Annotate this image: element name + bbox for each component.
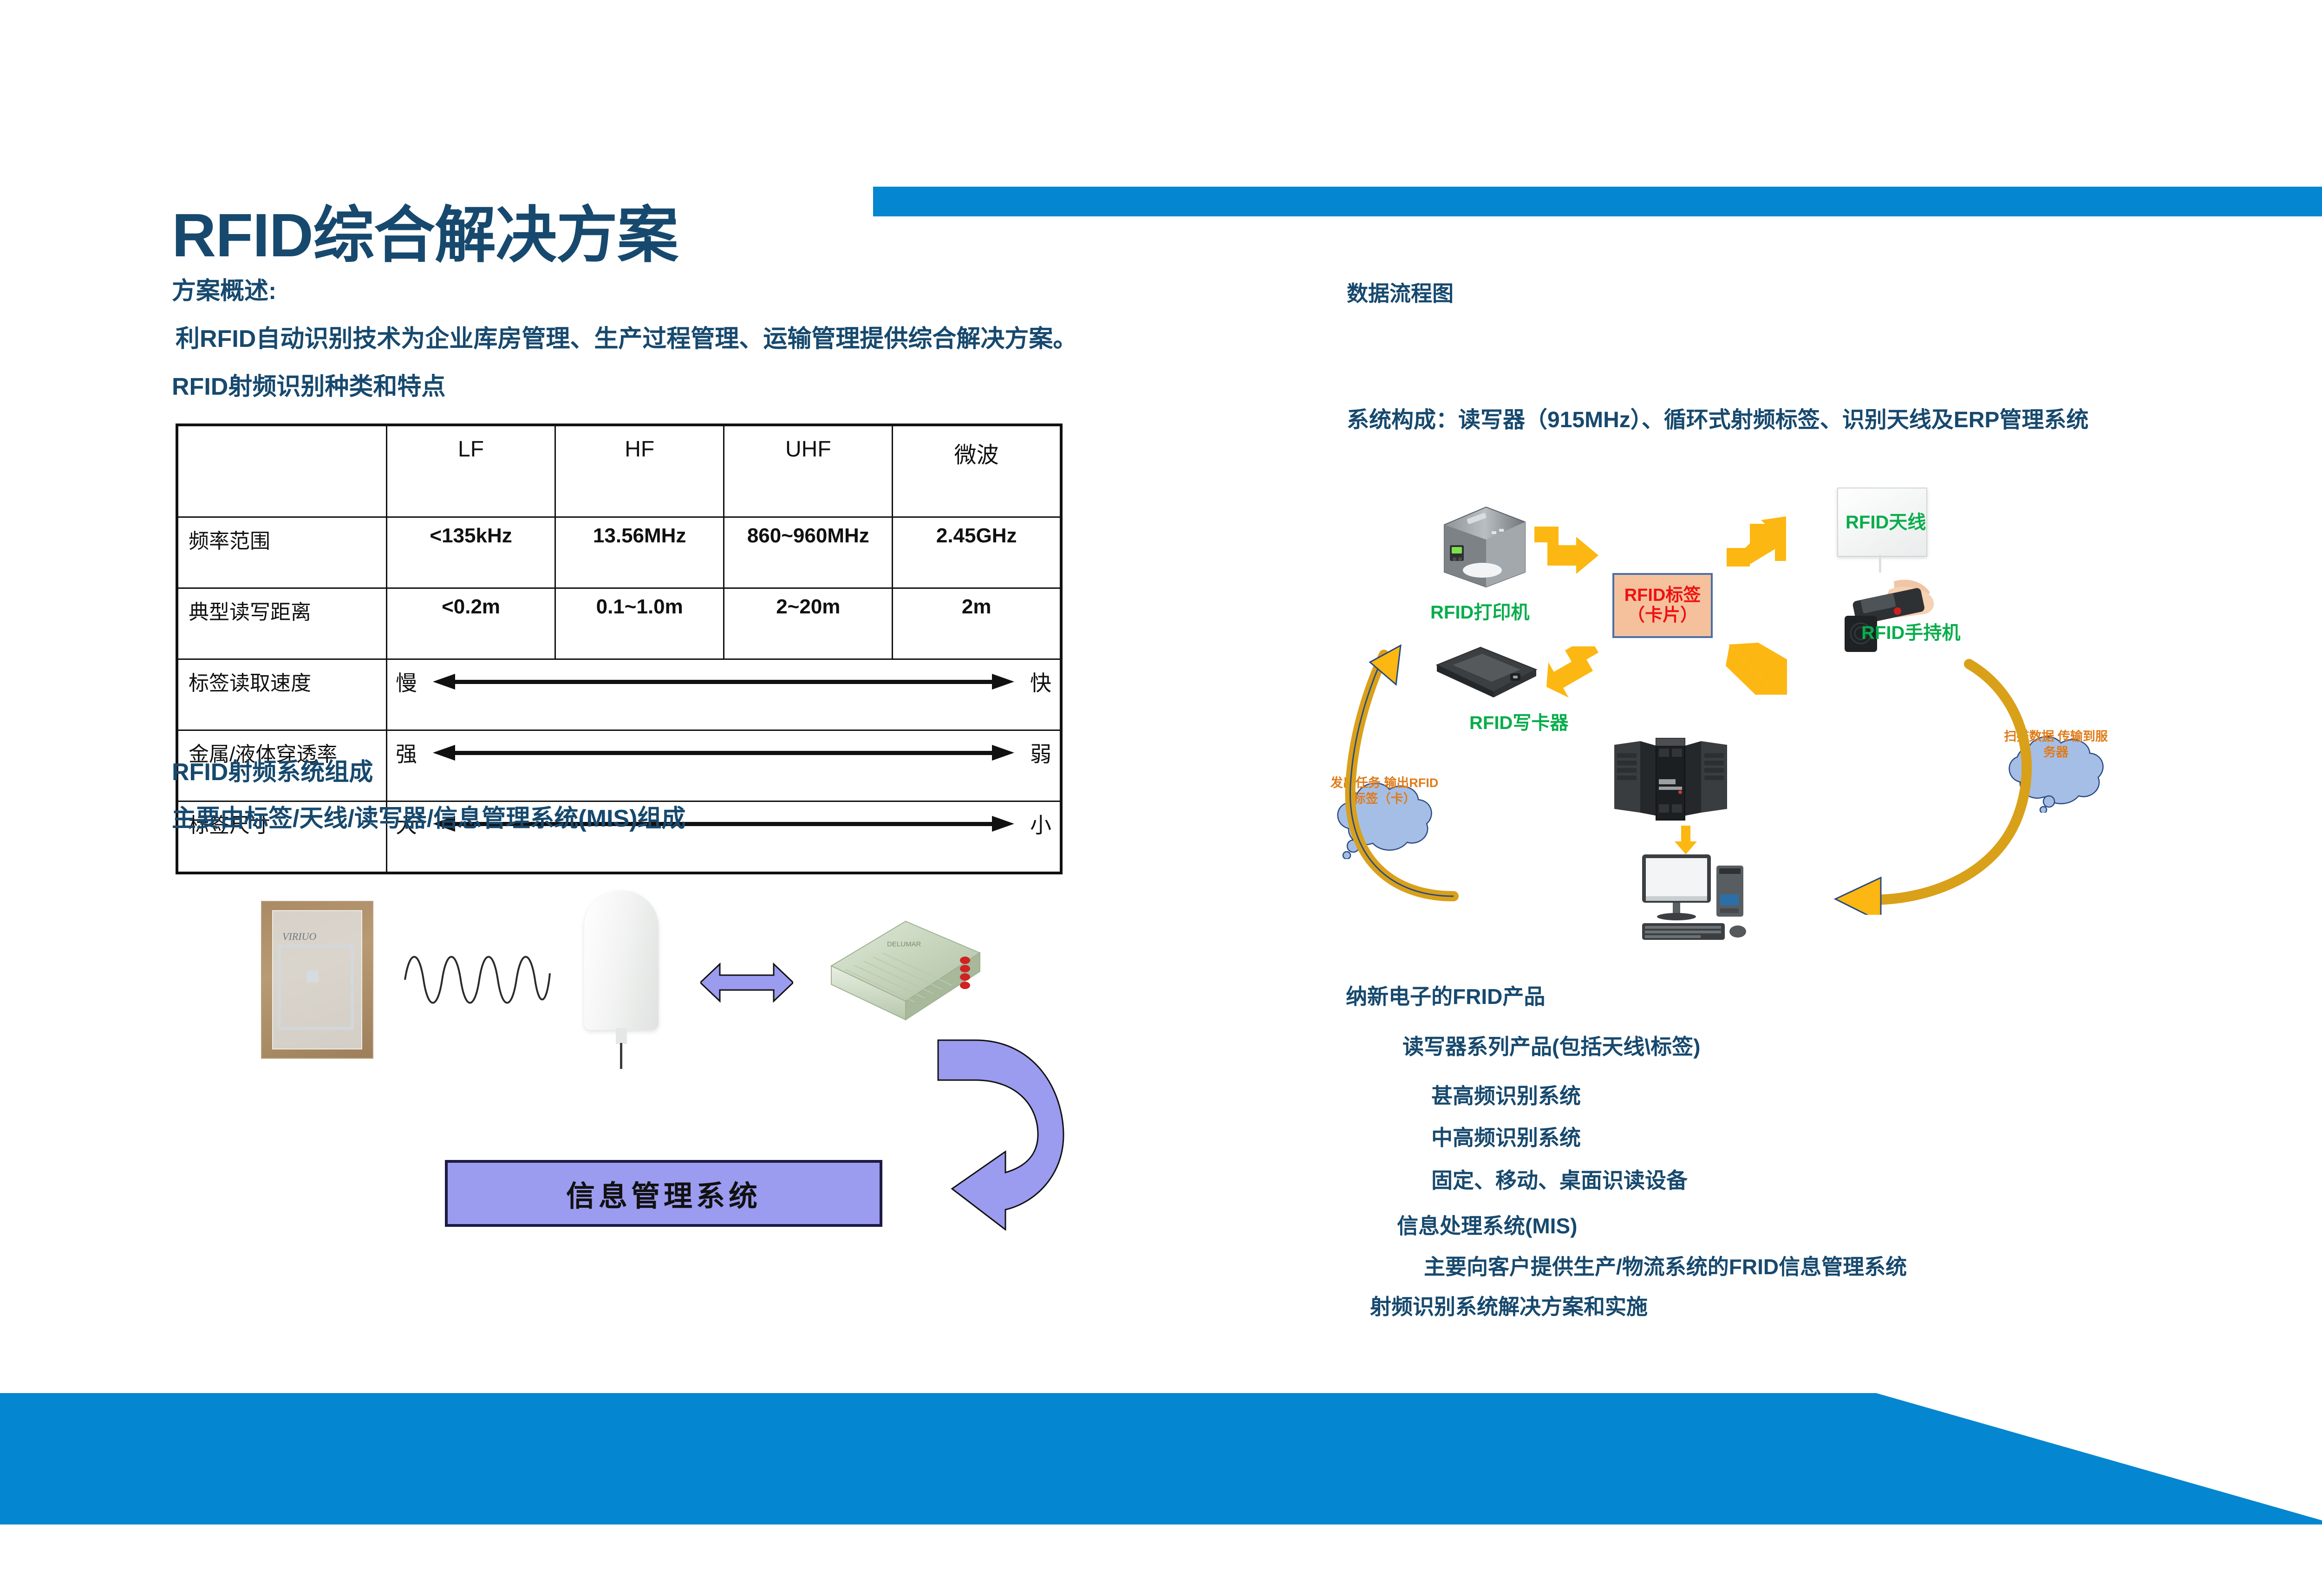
rf-wave-icon (403, 952, 552, 1008)
product-item-0: 读写器系列产品(包括天线\标签) (1402, 1036, 1700, 1058)
scale-right-label: 快 (1030, 666, 1051, 697)
mis-box-label: 信息管理系统 (566, 1173, 761, 1214)
table-cell: 2.45GHz (893, 517, 1061, 588)
loop-arrow-icon (896, 1036, 1082, 1231)
scale-arrow-icon (433, 674, 1014, 690)
tag-chip (307, 971, 319, 983)
tag-antenna-coil (278, 945, 354, 1030)
table-cell: 860~960MHz (724, 517, 893, 588)
page-title: RFID综合解决方案 (172, 186, 678, 274)
antenna-cable (620, 1043, 622, 1069)
products-heading: 纳新电子的FRID产品 (1346, 985, 1545, 1008)
table-col-header: 微波 (893, 425, 1061, 517)
antenna-panel-lead (1879, 555, 1881, 573)
bidirectional-arrow-icon (700, 961, 793, 1004)
table-col-header: HF (555, 425, 724, 517)
tag-logo: VIRIUO (282, 931, 316, 943)
flow-title: 数据流程图 (1347, 282, 1454, 305)
system-composition: 系统构成：读写器（915MHz）、循环式射频标签、识别天线及ERP管理系统 (1347, 409, 2088, 432)
table-row-label: 典型读写距离 (177, 588, 387, 659)
table-header-row: LFHFUHF微波 (177, 425, 1061, 517)
scale-right-label: 弱 (1030, 737, 1051, 768)
system-heading: RFID射频系统组成 (172, 760, 373, 785)
scale-right-label: 小 (1030, 808, 1051, 839)
table-row-label: 标签读取速度 (177, 659, 387, 730)
table-cell: 2~20m (724, 588, 893, 659)
table-scale-cell: 慢快 (387, 659, 1062, 730)
table-row: 标签读取速度慢快 (177, 659, 1061, 730)
rfid-reader-photo: DELUMAR (817, 910, 989, 1031)
product-item-4: 信息处理系统(MIS) (1397, 1215, 1577, 1237)
table-cell: 2m (893, 588, 1061, 659)
rfid-printer-photo (1436, 502, 1533, 591)
rfid-tag-box: RFID标签 （卡片） (1612, 573, 1713, 638)
scale-arrow-icon (433, 745, 1014, 761)
rfid-antenna-photo (584, 891, 659, 1030)
table-cell: <135kHz (387, 517, 555, 588)
tag-box-line1: RFID标签 (1624, 586, 1701, 606)
table-row: 频率范围<135kHz13.56MHz860~960MHz2.45GHz (177, 517, 1061, 588)
types-heading: RFID射频识别种类和特点 (172, 374, 445, 400)
scale-left-label: 强 (396, 737, 417, 768)
scale-left-label: 慢 (396, 666, 417, 697)
table-cell: 0.1~1.0m (555, 588, 724, 659)
antenna-stem (616, 1028, 627, 1044)
table-col-header: UHF (724, 425, 893, 517)
svg-text:DELUMAR: DELUMAR (887, 940, 921, 948)
arrow-printer-to-tag-icon (1532, 521, 1601, 577)
system-desc: 主要由标签/天线/读写器/信息管理系统(MIS)组成 (172, 806, 685, 832)
table-scale-cell: 强弱 (387, 730, 1062, 801)
product-item-5: 主要向客户提供生产/物流系统的FRID信息管理系统 (1424, 1256, 1907, 1278)
antenna-label: RFID天线 (1846, 507, 1926, 534)
flow-ribbon-left (1314, 618, 1593, 905)
product-item-1: 甚高频识别系统 (1431, 1085, 1581, 1107)
table-cell: 13.56MHz (555, 517, 724, 588)
server-rack-photo (1611, 735, 1730, 823)
table-row: 典型读写距离<0.2m0.1~1.0m2~20m2m (177, 588, 1061, 659)
footer-accent-band (0, 1393, 2322, 1524)
product-item-3: 固定、移动、桌面识读设备 (1431, 1169, 1688, 1192)
overview-label: 方案概述: (172, 279, 276, 304)
overview-text: 利RFID自动识别技术为企业库房管理、生产过程管理、运输管理提供综合解决方案。 (176, 326, 1077, 352)
rfid-tag-photo: VIRIUO (261, 901, 373, 1059)
table-col-header: LF (387, 425, 555, 517)
product-item-2: 中高频识别系统 (1431, 1127, 1581, 1149)
slide-canvas: RFID综合解决方案 方案概述: 利RFID自动识别技术为企业库房管理、生产过程… (0, 0, 2322, 1596)
tag-box-line2: （卡片） (1627, 606, 1698, 625)
flow-ribbon-right (1728, 618, 2053, 915)
table-row-label: 频率范围 (177, 517, 387, 588)
header-accent-bar (873, 187, 2322, 216)
mis-box: 信息管理系统 (445, 1160, 882, 1227)
product-item-6: 射频识别系统解决方案和实施 (1370, 1296, 1648, 1318)
table-corner-cell (177, 425, 387, 517)
table-cell: <0.2m (387, 588, 555, 659)
arrow-tag-to-antenna-icon (1724, 515, 1789, 570)
